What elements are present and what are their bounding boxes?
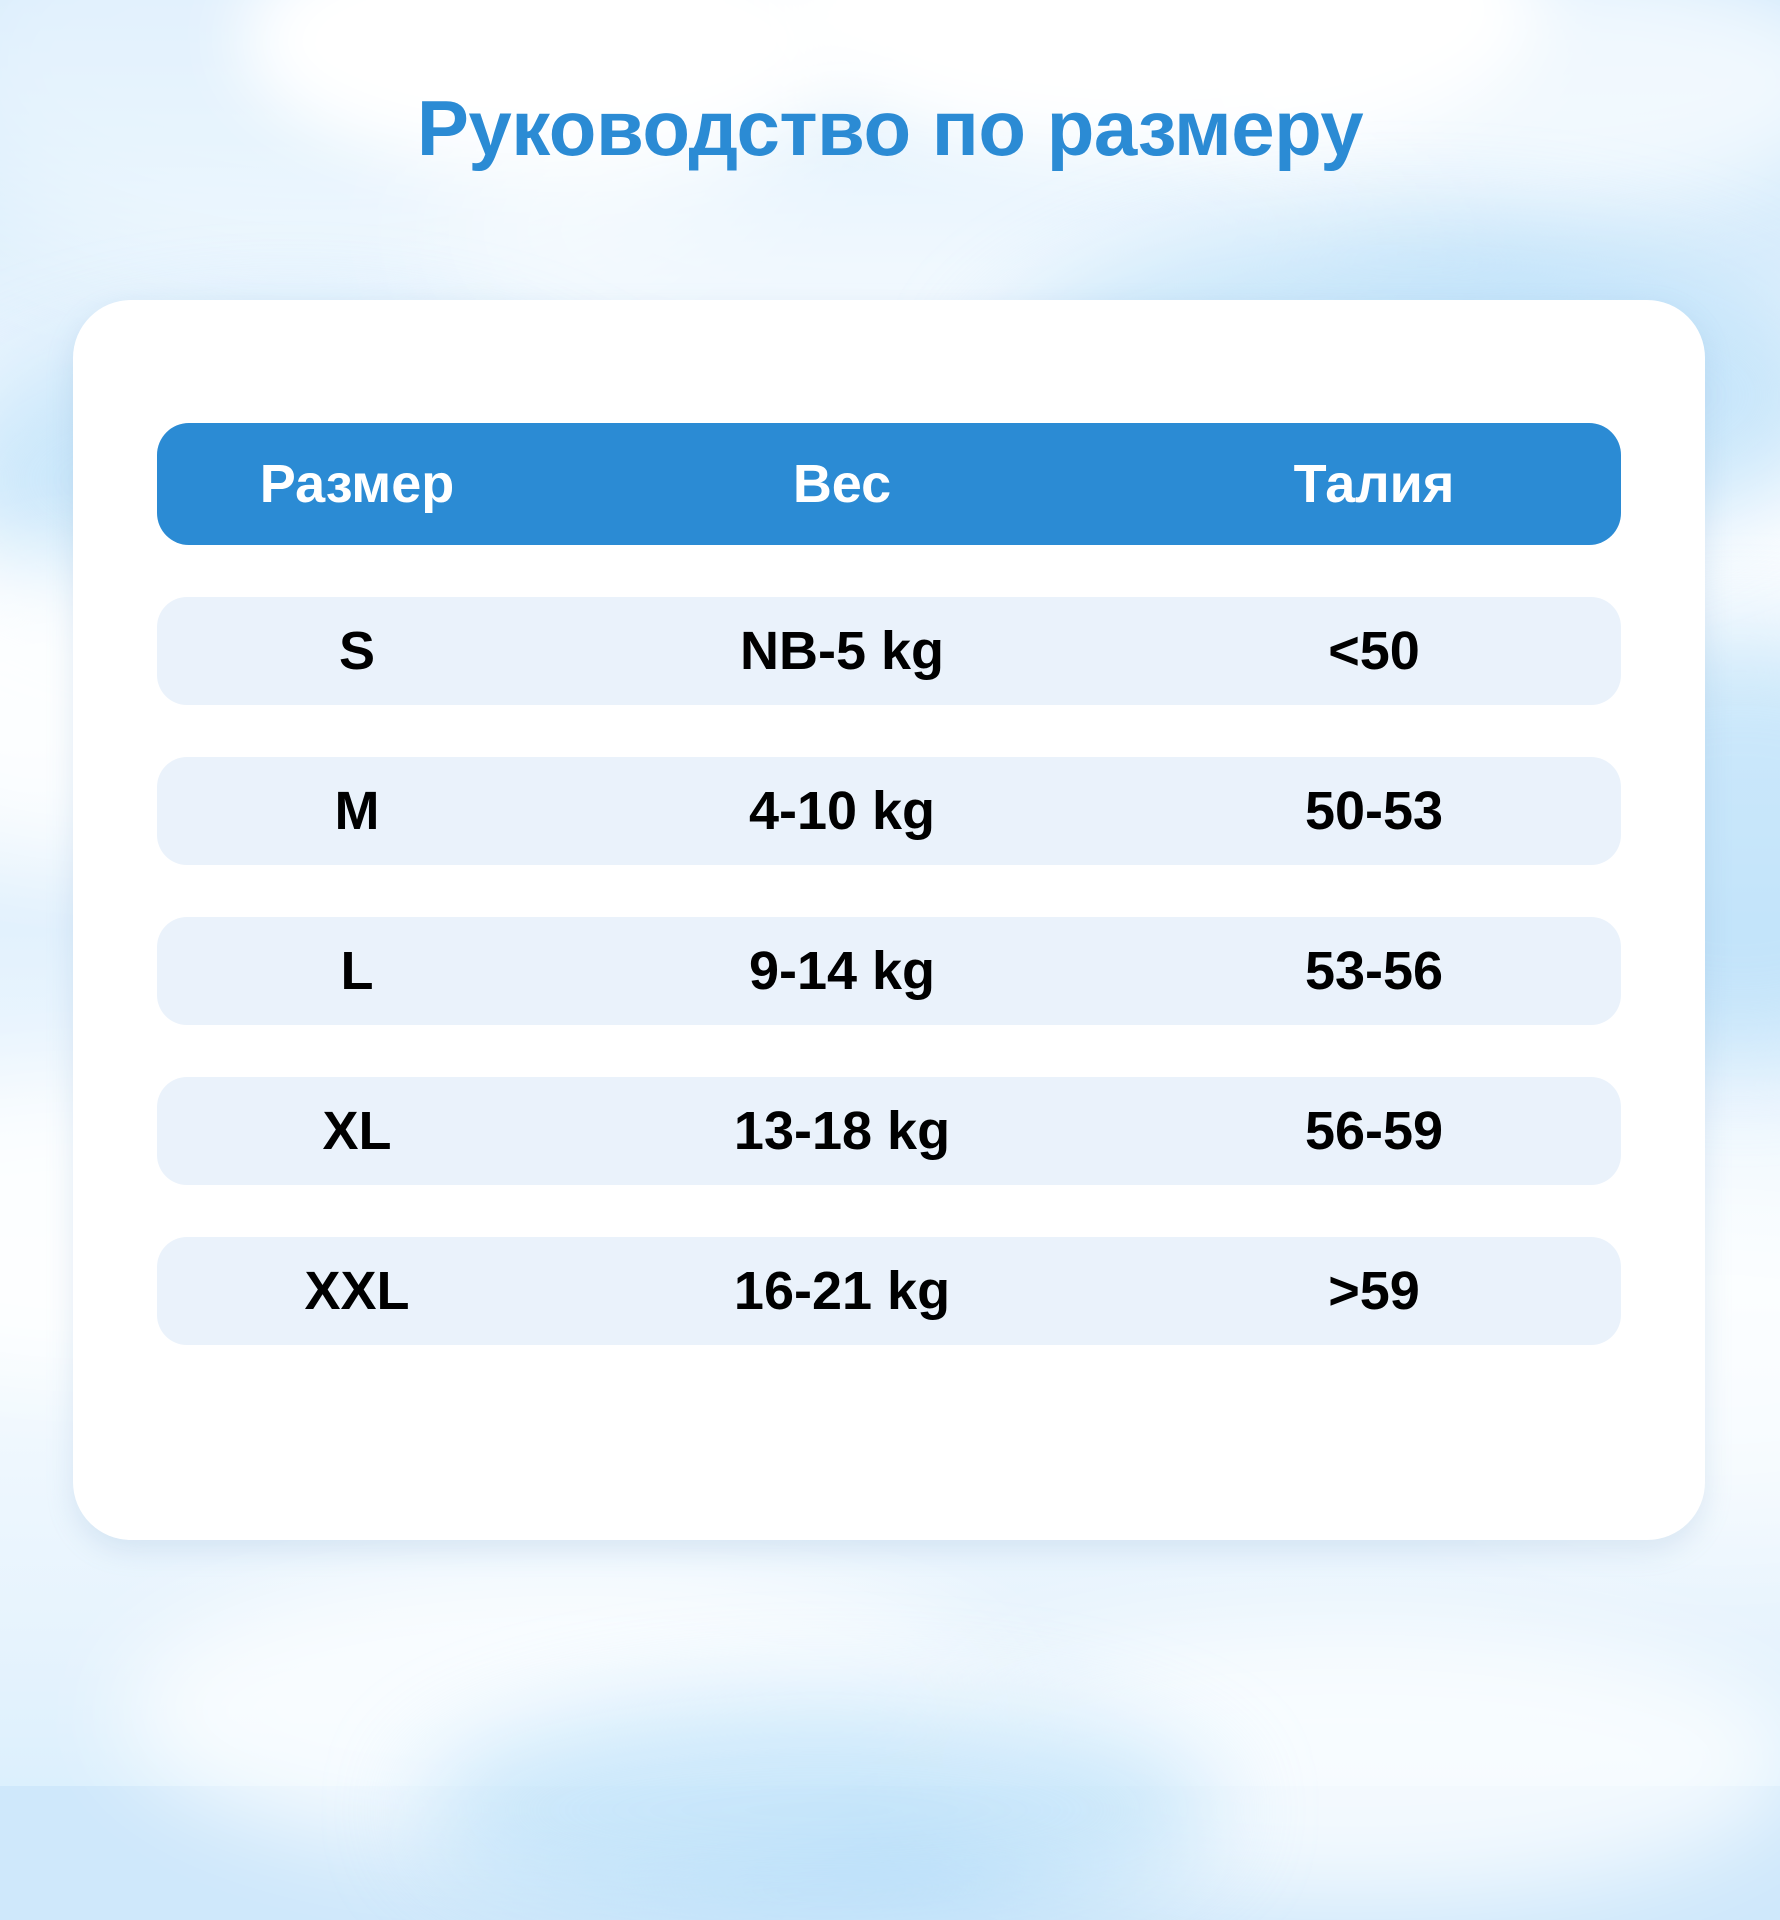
table-row: L 9-14 kg 53-56 xyxy=(157,917,1621,1025)
page-title: Руководство по размеру xyxy=(0,88,1780,170)
cell-waist: 56-59 xyxy=(1127,1100,1621,1162)
cell-size: XL xyxy=(157,1100,557,1162)
column-header-size: Размер xyxy=(157,453,557,515)
cell-size: S xyxy=(157,620,557,682)
cell-waist: 50-53 xyxy=(1127,780,1621,842)
cloud-wisp xyxy=(900,1620,1780,1900)
cell-weight: NB-5 kg xyxy=(557,620,1127,682)
cell-weight: 9-14 kg xyxy=(557,940,1127,1002)
table-row: XL 13-18 kg 56-59 xyxy=(157,1077,1621,1185)
cell-size: M xyxy=(157,780,557,842)
cell-waist: <50 xyxy=(1127,620,1621,682)
cell-waist: 53-56 xyxy=(1127,940,1621,1002)
cell-waist: >59 xyxy=(1127,1260,1621,1322)
column-header-waist: Талия xyxy=(1127,453,1621,515)
cell-size: L xyxy=(157,940,557,1002)
sky-blue-wisp xyxy=(420,1700,1220,1920)
table-row: M 4-10 kg 50-53 xyxy=(157,757,1621,865)
cell-size: XXL xyxy=(157,1260,557,1322)
table-row: S NB-5 kg <50 xyxy=(157,597,1621,705)
size-guide-card: Размер Вес Талия S NB-5 kg <50 M 4-10 kg… xyxy=(73,300,1705,1540)
cloud-wisp xyxy=(120,1560,1020,1860)
column-header-weight: Вес xyxy=(557,453,1127,515)
size-table: Размер Вес Талия S NB-5 kg <50 M 4-10 kg… xyxy=(157,423,1621,1345)
table-header-row: Размер Вес Талия xyxy=(157,423,1621,545)
cell-weight: 16-21 kg xyxy=(557,1260,1127,1322)
cell-weight: 13-18 kg xyxy=(557,1100,1127,1162)
table-row: XXL 16-21 kg >59 xyxy=(157,1237,1621,1345)
cell-weight: 4-10 kg xyxy=(557,780,1127,842)
